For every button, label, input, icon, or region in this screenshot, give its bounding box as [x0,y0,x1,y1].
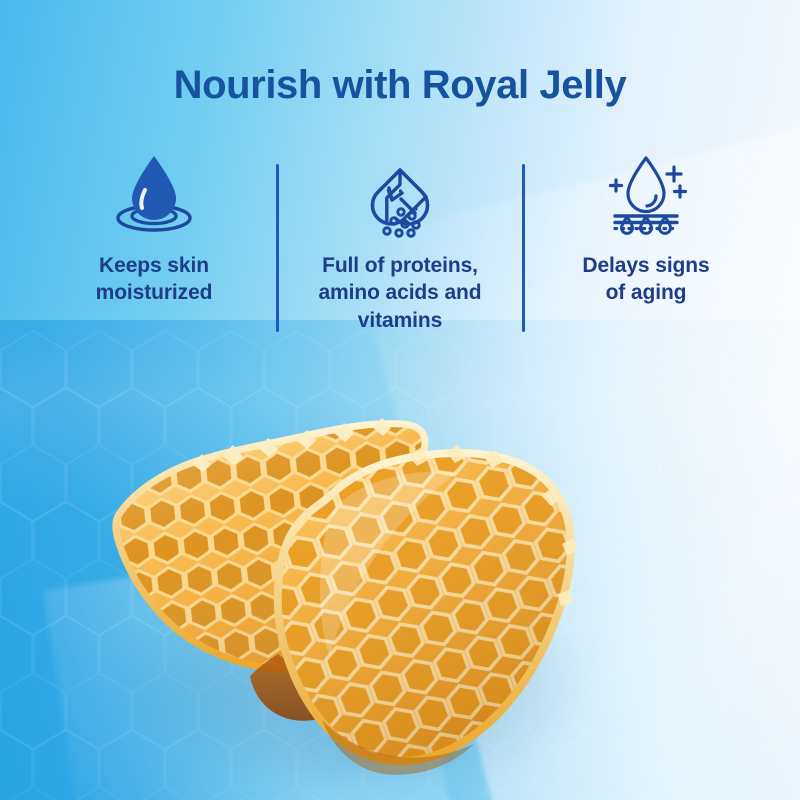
benefit-caption: Full of proteins, amino acids and vitami… [318,252,481,334]
capsule-pill-granules-icon [354,152,446,238]
benefit-caption-line: Keeps skin [96,252,213,279]
honeycomb-photo [72,368,632,800]
droplet-skin-layers-sparkle-icon [598,152,694,238]
water-droplet-ripple-icon [111,152,197,238]
benefit-item-anti-aging: Delays signs of aging [532,152,760,307]
benefit-caption: Keeps skin moisturized [96,252,213,307]
benefit-caption: Delays signs of aging [582,252,709,307]
benefit-caption-line: vitamins [318,307,481,334]
benefit-caption-line: amino acids and [318,279,481,306]
benefit-caption-line: Delays signs [582,252,709,279]
column-divider [276,164,279,332]
benefits-row: Keeps skin moisturized [40,152,760,342]
benefit-caption-line: moisturized [96,279,213,306]
page-title: Nourish with Royal Jelly [0,62,800,108]
benefit-item-moisturize: Keeps skin moisturized [40,152,268,307]
benefit-caption-line: Full of proteins, [318,252,481,279]
benefit-item-proteins: Full of proteins, amino acids and vitami… [286,152,514,334]
column-divider [522,164,525,332]
benefit-caption-line: of aging [582,279,709,306]
